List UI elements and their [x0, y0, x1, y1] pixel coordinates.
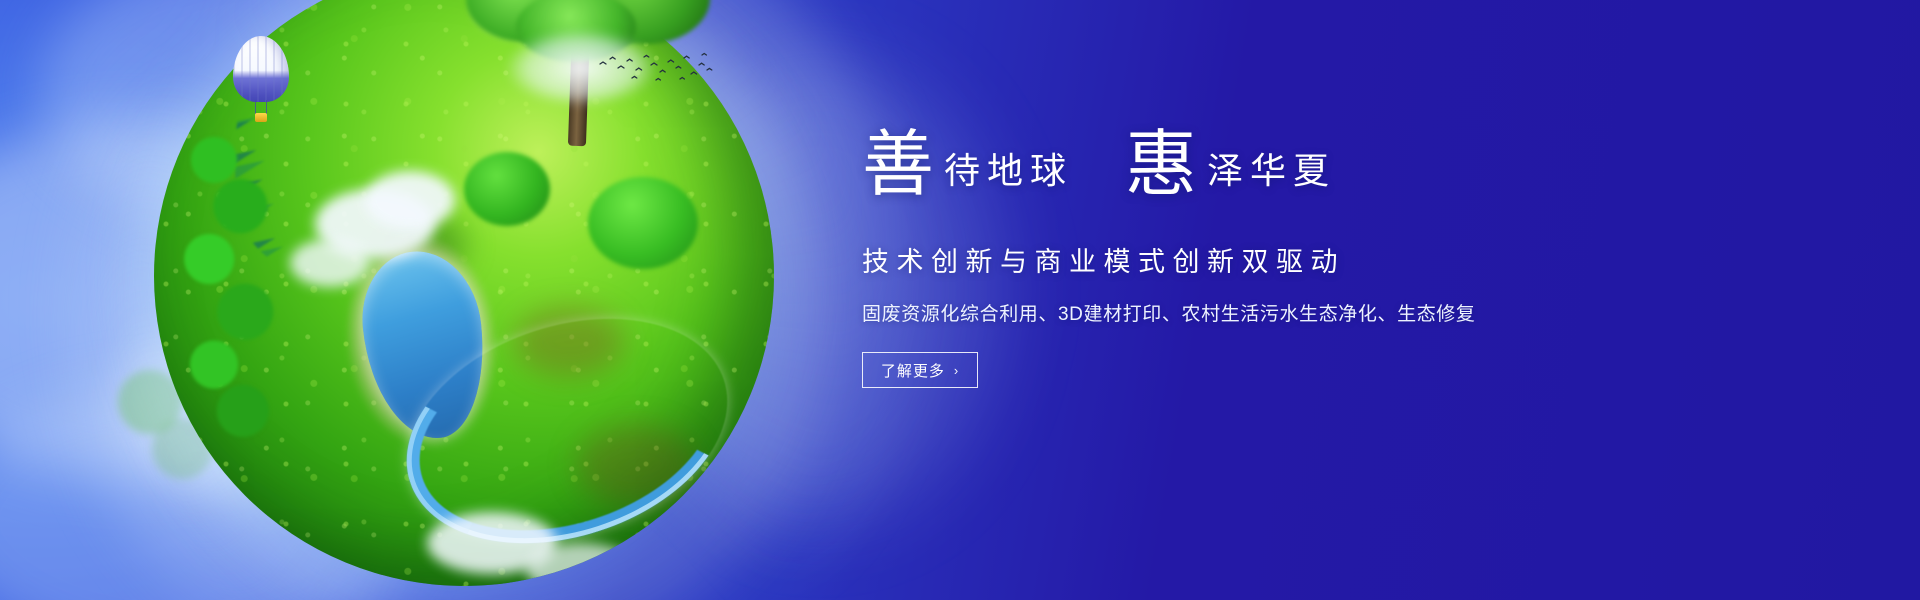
learn-more-label: 了解更多 — [881, 360, 945, 381]
hot-air-balloon-icon — [233, 36, 289, 128]
cloud-puff — [365, 171, 455, 229]
balloon-basket — [255, 113, 267, 122]
cloud-puff — [290, 239, 370, 287]
headline-char-2: 惠 — [1125, 128, 1197, 200]
learn-more-button[interactable]: 了解更多 › — [862, 352, 978, 388]
hero-text-block: 善待地球惠泽华夏 技术创新与商业模式创新双驱动 固废资源化综合利用、3D建材打印… — [862, 128, 1842, 388]
bird-flock-icon — [596, 50, 716, 86]
page-description: 固废资源化综合利用、3D建材打印、农村生活污水生态净化、生态修复 — [862, 299, 1842, 326]
balloon-stripes — [233, 36, 289, 102]
balloon-lines — [255, 100, 267, 114]
headline-rest-2: 泽华夏 — [1207, 154, 1336, 190]
headline-char-1: 善 — [862, 128, 934, 200]
hero-banner: 善待地球惠泽华夏 技术创新与商业模式创新双驱动 固废资源化综合利用、3D建材打印… — [0, 0, 1920, 600]
headline-rest-1: 待地球 — [944, 154, 1073, 190]
forest-ring — [166, 127, 286, 457]
page-title: 善待地球惠泽华夏 — [862, 128, 1842, 224]
bush — [588, 177, 698, 269]
page-subtitle: 技术创新与商业模式创新双驱动 — [862, 240, 1842, 279]
chevron-right-icon: › — [954, 364, 959, 377]
